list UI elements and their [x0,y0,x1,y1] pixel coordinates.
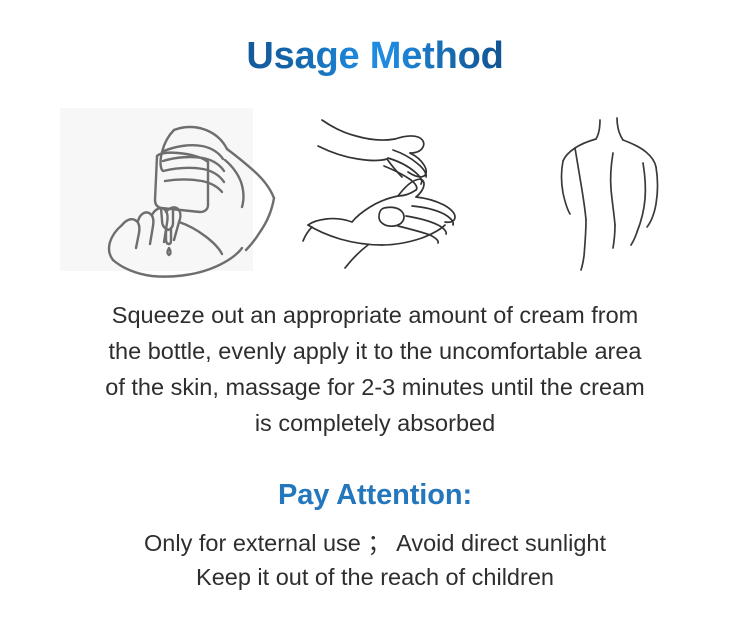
page-title-container: Usage Method [0,36,750,78]
instruction-line-3: of the skin, massage for 2-3 minutes unt… [30,369,720,405]
human-back-icon [545,108,695,273]
usage-instructions: Squeeze out an appropriate amount of cre… [30,297,720,441]
instruction-line-4: is completely absorbed [30,405,720,441]
usage-method-panel: Usage Method [0,0,750,644]
attention-notes: Only for external use ； Avoid direct sun… [25,526,725,594]
attention-heading: Pay Attention: [278,478,472,513]
human-back-outline-illustration [545,108,695,273]
instruction-line-2: the bottle, evenly apply it to the uncom… [30,333,720,369]
hand-squeezing-tube-into-palm-illustration [60,108,295,278]
attention-line-2: Keep it out of the reach of children [25,560,725,594]
instruction-line-1: Squeeze out an appropriate amount of cre… [30,297,720,333]
page-title: Usage Method [246,36,503,78]
attention-line-1: Only for external use ； Avoid direct sun… [25,526,725,560]
hands-rubbing-icon [300,108,485,273]
hand-squeezing-tube-icon [60,108,295,278]
attention-heading-container: Pay Attention: [0,478,750,513]
hands-rubbing-cream-illustration [300,108,485,273]
illustration-row [0,108,750,278]
